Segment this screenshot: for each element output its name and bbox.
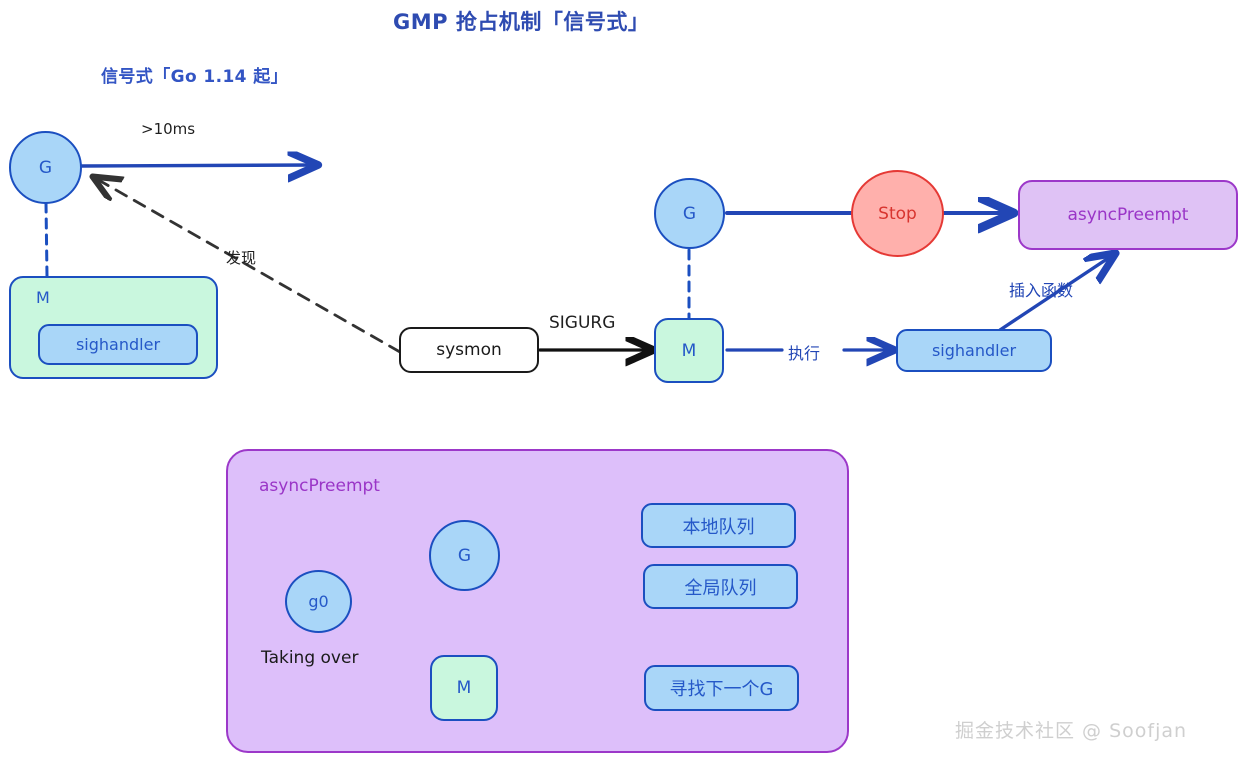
node-g-panel[interactable]: G	[429, 520, 500, 591]
node-m-mid[interactable]: M	[654, 318, 724, 383]
node-g-panel-label: G	[458, 546, 471, 566]
node-global-queue-label: 全局队列	[685, 574, 757, 600]
node-sysmon-label: sysmon	[436, 340, 502, 360]
label-sigurg: SIGURG	[549, 313, 615, 333]
edge-timeout	[82, 165, 315, 166]
node-local-queue[interactable]: 本地队列	[641, 503, 796, 548]
label-execute: 执行	[788, 340, 820, 364]
watermark: 掘金技术社区 @ Soofjan	[955, 716, 1187, 743]
node-m-left-label: M	[36, 288, 50, 307]
node-g-mid[interactable]: G	[654, 178, 725, 249]
node-stop-label: Stop	[878, 204, 917, 224]
node-g0[interactable]: g0	[285, 570, 352, 633]
node-sighandler-right[interactable]: sighandler	[896, 329, 1052, 372]
label-timeout: >10ms	[141, 120, 195, 138]
panel-title: asyncPreempt	[259, 476, 380, 496]
node-g-left[interactable]: G	[9, 131, 82, 204]
label-insert-func: 插入函数	[1009, 277, 1073, 301]
label-discover: 发现	[226, 247, 256, 268]
node-m-mid-label: M	[682, 341, 697, 361]
page-title: GMP 抢占机制「信号式」	[393, 6, 649, 36]
node-sighandler-left-label: sighandler	[76, 335, 160, 354]
node-m-panel[interactable]: M	[430, 655, 498, 721]
node-local-queue-label: 本地队列	[683, 513, 755, 539]
node-sighandler-right-label: sighandler	[932, 341, 1016, 360]
node-global-queue[interactable]: 全局队列	[643, 564, 798, 609]
node-sysmon[interactable]: sysmon	[399, 327, 539, 373]
node-find-next-g[interactable]: 寻找下一个G	[644, 665, 799, 711]
node-m-panel-label: M	[457, 678, 472, 698]
node-stop[interactable]: Stop	[851, 170, 944, 257]
node-sighandler-left[interactable]: sighandler	[38, 324, 198, 365]
node-find-next-g-label: 寻找下一个G	[670, 675, 774, 701]
node-g-left-label: G	[39, 158, 52, 178]
node-asyncpreempt-top[interactable]: asyncPreempt	[1018, 180, 1238, 250]
node-g0-label: g0	[308, 592, 328, 611]
edge-g-m-left	[46, 203, 47, 276]
diagram-canvas: GMP 抢占机制「信号式」 信号式「Go 1.14 起」 G >10ms M s…	[0, 0, 1254, 766]
section-subtitle: 信号式「Go 1.14 起」	[101, 62, 288, 87]
node-asyncpreempt-top-label: asyncPreempt	[1068, 205, 1189, 225]
label-taking-over: Taking over	[261, 648, 358, 668]
node-g-mid-label: G	[683, 204, 696, 224]
